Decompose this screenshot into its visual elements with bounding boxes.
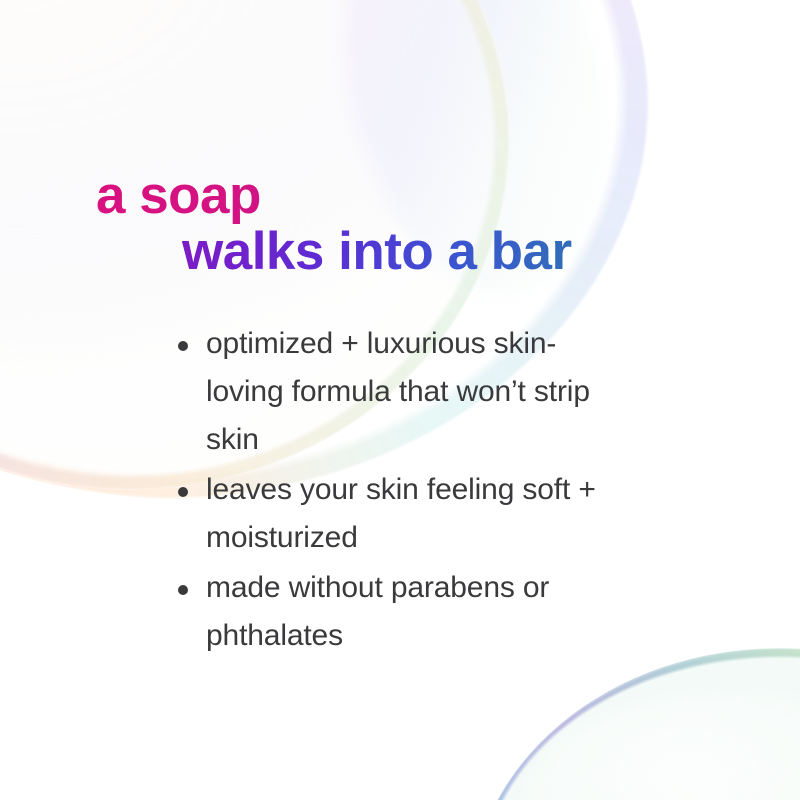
headline: a soap walks into a bar [96, 168, 736, 280]
list-item: leaves your skin feeling soft + moisturi… [176, 466, 776, 562]
list-item-label: made without parabens or phthalates [206, 564, 596, 660]
headline-line-1: a soap [96, 168, 736, 224]
bullet-dot-icon [178, 585, 188, 595]
content-layer: a soap walks into a bar optimized + luxu… [0, 0, 800, 800]
headline-line-2: walks into a bar [182, 224, 736, 280]
list-item: made without parabens or phthalates [176, 564, 776, 660]
bullet-dot-icon [178, 487, 188, 497]
list-item-label: optimized + luxurious skin-loving formul… [206, 320, 596, 464]
marketing-graphic-canvas: a soap walks into a bar optimized + luxu… [0, 0, 800, 800]
list-item: optimized + luxurious skin-loving formul… [176, 320, 776, 464]
bullet-dot-icon [178, 341, 188, 351]
benefits-list: optimized + luxurious skin-loving formul… [176, 320, 776, 662]
list-item-label: leaves your skin feeling soft + moisturi… [206, 466, 596, 562]
